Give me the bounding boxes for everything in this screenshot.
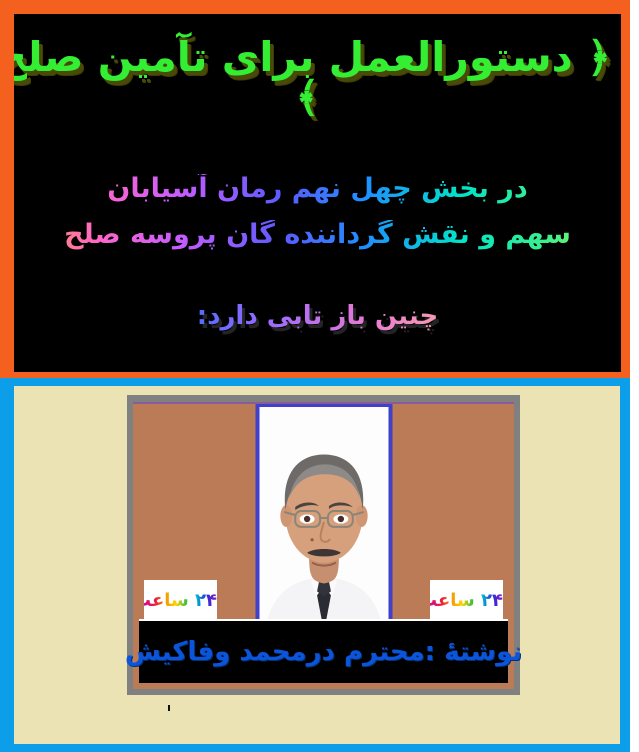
photo-frame-backdrop: ۲۴ ساعت ۲۴ ساعت نوشتهٔ :محترم درمحمد وفا…	[133, 402, 514, 689]
title-panel: ﴿ دستورالعمل برای تآمین صلح ﴾ در بخش چهل…	[0, 0, 630, 378]
subtitle-line-3: چنین باز تابی دارد:	[14, 302, 621, 331]
photo-frame: ۲۴ ساعت ۲۴ ساعت نوشتهٔ :محترم درمحمد وفا…	[127, 395, 520, 695]
author-bar: نوشتهٔ :محترم درمحمد وفاکیش	[139, 619, 508, 683]
author-credit: نوشتهٔ :محترم درمحمد وفاکیش	[125, 637, 522, 667]
portrait-border	[255, 404, 392, 627]
main-title-line-2: ﴾	[14, 76, 621, 119]
subtitle-line-2: سهم و نقش گرداننده گان پروسه صلح	[14, 220, 621, 250]
subtitle-line-1: در بخش چهل نهم رمان آسیابان	[14, 174, 621, 204]
logo-24saat-left: ۲۴ ساعت	[144, 580, 217, 622]
portrait-photo	[259, 407, 388, 621]
logo-24saat-right: ۲۴ ساعت	[430, 580, 503, 622]
photo-panel-inner: ۲۴ ساعت ۲۴ ساعت نوشتهٔ :محترم درمحمد وفا…	[14, 386, 620, 744]
poster-page: ﴿ دستورالعمل برای تآمین صلح ﴾ در بخش چهل…	[0, 0, 639, 752]
photo-panel: ۲۴ ساعت ۲۴ ساعت نوشتهٔ :محترم درمحمد وفا…	[0, 378, 630, 752]
logo-24saat-right-text: ۲۴ ساعت	[430, 590, 503, 611]
stray-punctuation-mark	[168, 705, 170, 711]
title-panel-inner: ﴿ دستورالعمل برای تآمین صلح ﴾ در بخش چهل…	[14, 14, 621, 372]
logo-24saat-left-text: ۲۴ ساعت	[144, 590, 217, 611]
portrait-illustration	[259, 407, 388, 621]
